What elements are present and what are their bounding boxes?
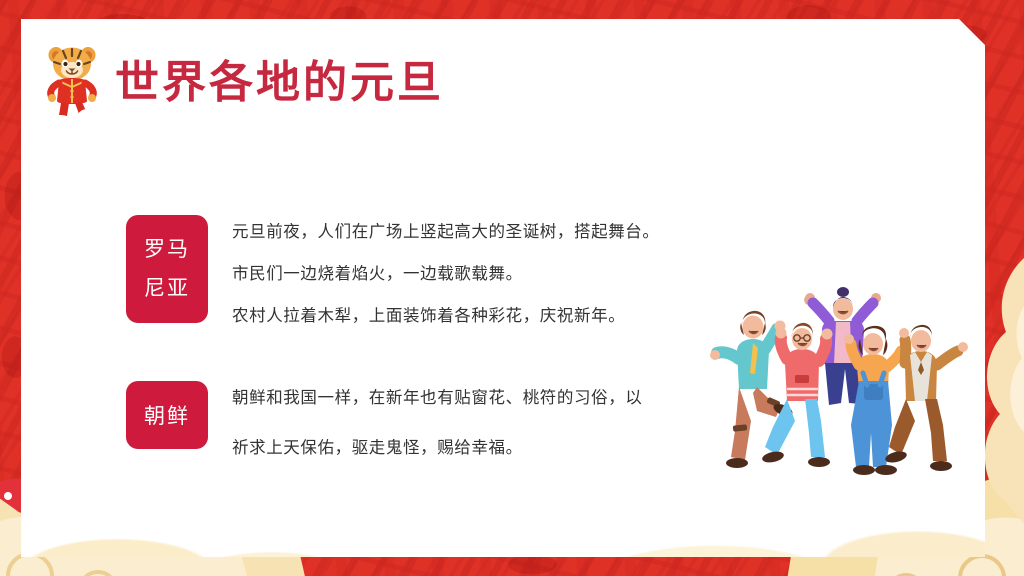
country-badge-line: 尼亚 (144, 269, 190, 308)
body-text-romania: 元旦前夜，人们在广场上竖起高大的圣诞树，搭起舞台。 市民们一边烧着焰火，一边载歌… (232, 215, 726, 326)
content-block-romania: 罗马 尼亚 元旦前夜，人们在广场上竖起高大的圣诞树，搭起舞台。 市民们一边烧着焰… (126, 215, 726, 326)
page-title: 世界各地的元旦 (115, 61, 444, 109)
slide: 世界各地的元旦 罗马 尼亚 元旦前夜，人们在广场上竖起高大的圣诞树，搭起舞台。 … (0, 0, 1024, 576)
content-blocks: 罗马 尼亚 元旦前夜，人们在广场上竖起高大的圣诞树，搭起舞台。 市民们一边烧着焰… (126, 215, 726, 458)
body-line: 祈求上天保佑，驱走鬼怪，赐给幸福。 (232, 434, 726, 458)
tiger-mascot-icon (41, 43, 103, 127)
country-badge-romania: 罗马 尼亚 (126, 215, 208, 323)
celebrating-people-illustration (709, 281, 971, 481)
content-card: 世界各地的元旦 罗马 尼亚 元旦前夜，人们在广场上竖起高大的圣诞树，搭起舞台。 … (21, 19, 985, 557)
country-badge-line: 朝鲜 (144, 400, 190, 430)
body-text-korea: 朝鲜和我国一样，在新年也有贴窗花、桃符的习俗，以 祈求上天保佑，驱走鬼怪，赐给幸… (232, 381, 726, 458)
person-brown (884, 325, 968, 471)
body-line: 元旦前夜，人们在广场上竖起高大的圣诞树，搭起舞台。 (232, 218, 726, 242)
body-line: 朝鲜和我国一样，在新年也有贴窗花、桃符的习俗，以 (232, 384, 726, 408)
page-header: 世界各地的元旦 (41, 43, 444, 127)
body-line: 市民们一边烧着焰火，一边载歌载舞。 (232, 260, 726, 284)
body-line: 农村人拉着木犁，上面装饰着各种彩花，庆祝新年。 (232, 302, 726, 326)
country-badge-korea: 朝鲜 (126, 381, 208, 449)
content-block-korea: 朝鲜 朝鲜和我国一样，在新年也有贴窗花、桃符的习俗，以 祈求上天保佑，驱走鬼怪，… (126, 381, 726, 458)
country-badge-line: 罗马 (144, 230, 190, 269)
